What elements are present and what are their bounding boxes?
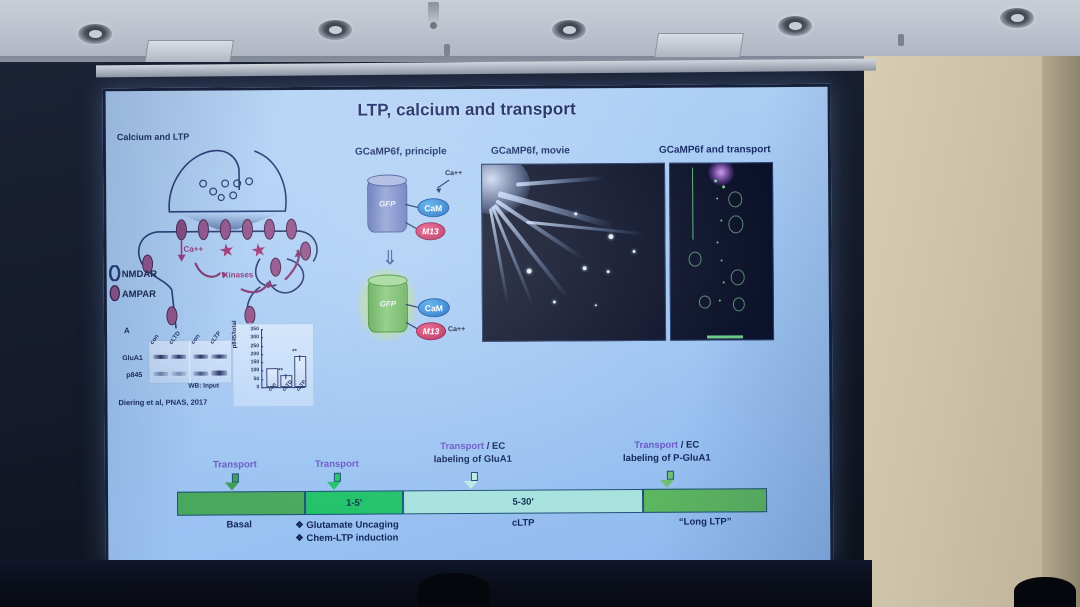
downlight-icon: [778, 16, 812, 36]
slide: LTP, calcium and transport Calcium and L…: [103, 84, 834, 568]
ceiling-sensor-icon: [444, 44, 450, 56]
blot-row-label-p845: p845: [126, 372, 142, 379]
downlight-icon: [318, 20, 352, 40]
blot-row-label-glua1: GluA1: [122, 355, 143, 362]
ca-label-bottom: Ca++: [448, 326, 465, 333]
slide-title: LTP, calcium and transport: [103, 98, 831, 122]
marker-main-3: Transport: [440, 441, 484, 452]
m13-label-bottom: M13: [416, 322, 446, 340]
panel-head-transport: GCaMP6f and transport: [659, 144, 771, 156]
svg-text:Kinases: Kinases: [223, 270, 254, 279]
air-vent: [654, 33, 744, 58]
panel-head-movie: GCaMP6f, movie: [491, 145, 570, 156]
timeline-marker-label-2: Transport: [297, 459, 377, 470]
timeline-segment-basal: [177, 491, 305, 516]
chart-ytick: 350: [250, 326, 261, 332]
chart-plot-area: 0 50 100 150 200 250 300 350 ** ** con: [261, 329, 305, 387]
legend-label-nmdar: NMDAR: [122, 269, 157, 280]
chart-annotation: **: [292, 349, 297, 355]
photo-scene: LTP, calcium and transport Calcium and L…: [0, 0, 1080, 607]
wall-right-edge: [1042, 56, 1080, 607]
downlight-icon: [78, 24, 112, 44]
chart-ytick: 0: [256, 384, 261, 390]
timeline-bottom-label-cltp: cLTP: [473, 517, 573, 529]
svg-text:Ca++: Ca++: [183, 245, 203, 254]
chart-ytick: 150: [251, 359, 262, 365]
western-blot-panel: A GluA1 p845 con cLTD con cLTP: [122, 325, 232, 398]
down-arrow-icon: ⇓: [382, 248, 399, 268]
marker-main-2: Transport: [315, 459, 359, 470]
timeline-segment-long-ltp: [643, 488, 767, 513]
timeline-bullets: ❖ Glutamate Uncaging ❖ Chem-LTP inductio…: [295, 518, 399, 545]
gcamp-principle-diagram: GFP CaM M13 Ca++ ⇓ GFP: [353, 160, 474, 381]
panel-head-principle: GCaMP6f, principle: [355, 146, 447, 158]
audience-head: [418, 573, 490, 607]
cam-label-top: CaM: [417, 198, 449, 217]
marker-suffix-4: / EC: [678, 440, 699, 451]
timeline-bottom-label-long-ltp: “Long LTP”: [647, 516, 763, 528]
micrograph-movie: [481, 163, 666, 342]
blot-membrane: [148, 339, 232, 384]
timeline-marker-label-3: Transport / EC labeling of GluA1: [413, 440, 533, 467]
m13-label-top: M13: [415, 222, 445, 240]
ceiling-sensor-icon: [898, 34, 904, 46]
timeline-segment-1-5: 1-5': [305, 490, 403, 515]
micrograph-transport: [669, 162, 774, 341]
blot-panel-letter: A: [124, 326, 130, 335]
timeline-bottom-label-basal: Basal: [189, 519, 289, 531]
downlight-icon: [1000, 8, 1034, 28]
marker-main-4: Transport: [634, 440, 678, 451]
bullet-item: ❖ Chem-LTP induction: [295, 531, 399, 545]
gfp-cylinder-dark: GFP: [367, 178, 407, 232]
blot-footer: WB: Input: [188, 383, 219, 390]
audience-head: [1014, 577, 1076, 607]
timeline-marker-label-4: Transport / EC labeling of P-GluA1: [599, 438, 735, 465]
ampar-icon: [108, 285, 122, 301]
experiment-timeline: 1-5' 5-30' Transport Transport: [177, 456, 768, 546]
legend-nmdar: NMDAR: [108, 264, 157, 282]
synapse-svg: Ca++ Kinases: [109, 139, 360, 341]
nmdar-icon: [108, 265, 122, 281]
chart-ytick: 250: [250, 343, 261, 349]
bullet-item: ❖ Glutamate Uncaging: [295, 518, 399, 532]
gfp-label-bright: GFP: [369, 299, 407, 308]
downlight-icon: [552, 20, 586, 40]
marker-sub-3: labeling of GluA1: [434, 454, 512, 465]
chart-ytick: 50: [254, 376, 262, 382]
chart-ytick: 100: [251, 368, 262, 374]
marker-sub-4: labeling of P-GluA1: [623, 453, 711, 465]
sprinkler-icon: [428, 2, 439, 24]
gfp-cylinder-bright: GFP: [368, 278, 408, 332]
cam-label-bottom: CaM: [418, 298, 450, 317]
chart-annotation: **: [278, 368, 283, 374]
projection-screen: LTP, calcium and transport Calcium and L…: [103, 84, 834, 568]
marker-suffix-3: / EC: [484, 441, 505, 452]
citation: Diering et al, PNAS, 2017: [118, 398, 207, 408]
legend-ampar: AMPAR: [108, 284, 156, 302]
timeline-marker-label-1: Transport: [195, 459, 275, 470]
chart-ytick: 300: [250, 334, 261, 340]
bar-chart: p845/total 0 50 100 150 200 250 300 350: [232, 323, 315, 407]
gfp-label: GFP: [368, 199, 406, 208]
synapse-diagram: Ca++ Kinases NMDAR AMPAR: [109, 139, 360, 341]
timeline-segment-5-30: 5-30': [403, 489, 643, 514]
chart-ytick: 200: [250, 351, 261, 357]
chart-ylabel: p845/total: [232, 320, 238, 348]
legend-label-ampar: AMPAR: [122, 289, 156, 300]
ca-label-top: Ca++: [445, 170, 462, 177]
marker-main-1: Transport: [213, 459, 257, 470]
